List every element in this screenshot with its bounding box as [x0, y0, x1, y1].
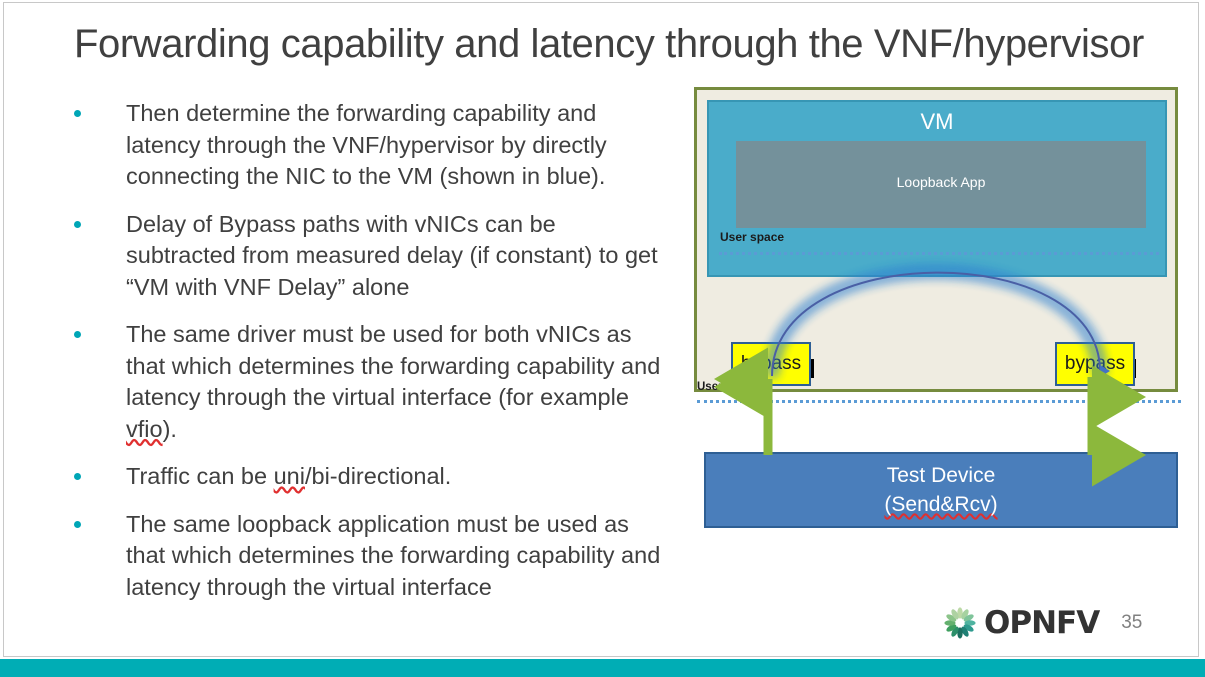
loopback-app-label: Loopback App	[736, 174, 1146, 190]
test-device-title: Test Device	[887, 461, 996, 490]
vm-box: VM Loopback App User space	[707, 100, 1167, 277]
bullet-marker	[66, 509, 126, 528]
host-kernel-boundary-divider	[697, 400, 1181, 403]
opnfv-petal-logo-icon	[942, 605, 978, 641]
spellcheck-underline: uni	[274, 463, 305, 489]
page-number: 35	[1121, 612, 1142, 634]
accent-bottom-bar	[0, 659, 1205, 677]
vm-kernel-boundary-divider	[719, 252, 1159, 255]
list-item: The same loopback application must be us…	[66, 509, 666, 604]
opnfv-wordmark: OPNFV	[984, 605, 1099, 641]
bypass-box-left: bypass	[731, 342, 811, 386]
vm-label: VM	[709, 109, 1165, 135]
list-item: Then determine the forwarding capability…	[66, 98, 666, 193]
bullet-marker	[66, 209, 126, 228]
host-container-box: VM Loopback App User space User space vN…	[694, 87, 1178, 392]
page-title: Forwarding capability and latency throug…	[74, 20, 1184, 68]
test-device-box: Test Device (Send&Rcv)	[704, 452, 1178, 528]
bullet-list: Then determine the forwarding capability…	[66, 98, 666, 619]
slide-footer: OPNFV 35	[942, 605, 1142, 641]
bullet-marker	[66, 319, 126, 338]
slide-canvas: Forwarding capability and latency throug…	[3, 2, 1199, 657]
bullet-text: The same loopback application must be us…	[126, 509, 666, 604]
list-item: The same driver must be used for both vN…	[66, 319, 666, 445]
vm-user-space-label: User space	[720, 230, 784, 244]
test-device-subtitle: (Send&Rcv)	[884, 490, 997, 519]
list-item: Traffic can be uni/bi-directional.	[66, 461, 666, 493]
bullet-marker	[66, 461, 126, 480]
architecture-diagram: VM Loopback App User space User space vN…	[694, 87, 1178, 539]
list-item: Delay of Bypass paths with vNICs can be …	[66, 209, 666, 304]
bullet-text: Traffic can be uni/bi-directional.	[126, 461, 666, 493]
bullet-text: The same driver must be used for both vN…	[126, 319, 666, 445]
bypass-box-right: bypass	[1055, 342, 1135, 386]
loopback-app-box: Loopback App	[736, 141, 1146, 228]
bullet-marker	[66, 98, 126, 117]
spellcheck-underline: vfio	[126, 416, 163, 442]
bullet-text: Delay of Bypass paths with vNICs can be …	[126, 209, 666, 304]
bullet-text: Then determine the forwarding capability…	[126, 98, 666, 193]
